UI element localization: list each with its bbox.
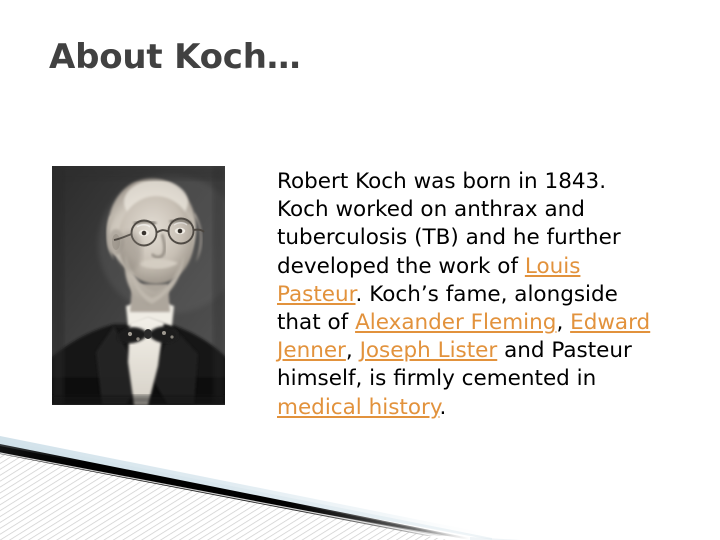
text-segment: , <box>556 310 570 335</box>
link-medical-history[interactable]: medical history <box>277 395 439 420</box>
body-paragraph: Robert Koch was born in 1843. Koch worke… <box>277 168 659 422</box>
portrait-illustration <box>52 166 225 405</box>
text-segment: , <box>346 338 360 363</box>
text-segment: . <box>439 395 446 420</box>
slide: About Koch… <box>0 0 720 540</box>
link-joseph-lister[interactable]: Joseph Lister <box>360 338 498 363</box>
link-edward[interactable]: Edward <box>570 310 650 335</box>
page-title: About Koch… <box>49 40 301 76</box>
corner-diagonal-ribbon-decoration <box>0 410 720 540</box>
robert-koch-portrait-image <box>52 166 225 405</box>
link-jenner[interactable]: Jenner <box>277 338 346 363</box>
link-alexander-fleming[interactable]: Alexander Fleming <box>355 310 556 335</box>
